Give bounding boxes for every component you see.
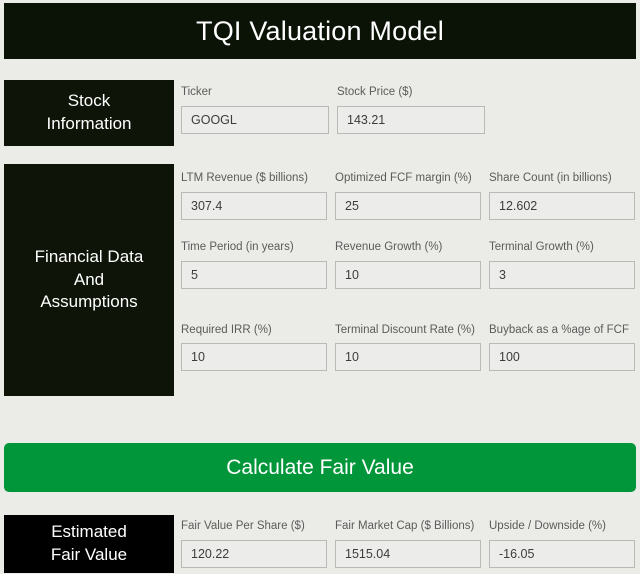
input-ltm-revenue[interactable]: 307.4: [181, 192, 327, 220]
input-time-period[interactable]: 5: [181, 261, 327, 289]
stock-information-fields: Ticker GOOGL Stock Price ($) 143.21: [181, 86, 485, 134]
field-label-share-count: Share Count (in billions): [489, 172, 635, 186]
field-optimized-fcf-margin: Optimized FCF margin (%) 25: [335, 172, 481, 220]
financial-data-fields: LTM Revenue ($ billions) 307.4 Optimized…: [181, 172, 635, 371]
field-share-count: Share Count (in billions) 12.602: [489, 172, 635, 220]
input-share-count[interactable]: 12.602: [489, 192, 635, 220]
financial-label-line-3: Assumptions: [35, 291, 144, 314]
section-label-stock-information-text: Stock Information: [46, 90, 131, 136]
input-buyback-percentage[interactable]: 100: [489, 343, 635, 371]
field-stock-price: Stock Price ($) 143.21: [337, 86, 485, 134]
field-fair-value-per-share: Fair Value Per Share ($) 120.22: [181, 520, 327, 568]
valuation-model-app: TQI Valuation Model Stock Information Ti…: [0, 0, 640, 574]
input-revenue-growth[interactable]: 10: [335, 261, 481, 289]
output-fair-market-cap: 1515.04: [335, 540, 481, 568]
field-ticker: Ticker GOOGL: [181, 86, 329, 134]
field-required-irr: Required IRR (%) 10: [181, 324, 327, 372]
field-label-ticker: Ticker: [181, 86, 329, 100]
app-header: TQI Valuation Model: [4, 3, 636, 59]
field-label-fair-market-cap: Fair Market Cap ($ Billions): [335, 520, 481, 534]
input-required-irr[interactable]: 10: [181, 343, 327, 371]
calculate-fair-value-button[interactable]: Calculate Fair Value: [4, 443, 636, 492]
field-label-buyback-percentage: Buyback as a %age of FCF: [489, 324, 635, 338]
stock-label-line-2: Information: [46, 113, 131, 136]
input-stock-price[interactable]: 143.21: [337, 106, 485, 134]
stock-field-row: Ticker GOOGL Stock Price ($) 143.21: [181, 86, 485, 134]
field-label-terminal-discount-rate: Terminal Discount Rate (%): [335, 324, 481, 338]
field-label-fair-value-per-share: Fair Value Per Share ($): [181, 520, 327, 534]
field-terminal-growth: Terminal Growth (%) 3: [489, 241, 635, 289]
input-terminal-growth[interactable]: 3: [489, 261, 635, 289]
field-label-ltm-revenue: LTM Revenue ($ billions): [181, 172, 327, 186]
estimated-fair-value-fields: Fair Value Per Share ($) 120.22 Fair Mar…: [181, 520, 635, 568]
input-terminal-discount-rate[interactable]: 10: [335, 343, 481, 371]
output-fair-value-per-share: 120.22: [181, 540, 327, 568]
field-revenue-growth: Revenue Growth (%) 10: [335, 241, 481, 289]
field-label-required-irr: Required IRR (%): [181, 324, 327, 338]
result-label-line-2: Fair Value: [51, 544, 127, 567]
input-optimized-fcf-margin[interactable]: 25: [335, 192, 481, 220]
result-label-line-1: Estimated: [51, 521, 127, 544]
field-buyback-percentage: Buyback as a %age of FCF 100: [489, 324, 635, 372]
section-label-stock-information: Stock Information: [4, 80, 174, 146]
field-label-revenue-growth: Revenue Growth (%): [335, 241, 481, 255]
section-label-financial-data-text: Financial Data And Assumptions: [35, 246, 144, 315]
field-terminal-discount-rate: Terminal Discount Rate (%) 10: [335, 324, 481, 372]
field-label-terminal-growth: Terminal Growth (%): [489, 241, 635, 255]
financial-field-row: Time Period (in years) 5 Revenue Growth …: [181, 241, 635, 289]
field-label-optimized-fcf-margin: Optimized FCF margin (%): [335, 172, 481, 186]
result-field-row: Fair Value Per Share ($) 120.22 Fair Mar…: [181, 520, 635, 568]
field-ltm-revenue: LTM Revenue ($ billions) 307.4: [181, 172, 327, 220]
row-spacer: [181, 289, 635, 324]
financial-field-row: Required IRR (%) 10 Terminal Discount Ra…: [181, 324, 635, 372]
field-upside-downside: Upside / Downside (%) -16.05: [489, 520, 635, 568]
page-title: TQI Valuation Model: [196, 18, 444, 45]
financial-label-line-1: Financial Data: [35, 246, 144, 269]
field-label-time-period: Time Period (in years): [181, 241, 327, 255]
financial-field-row: LTM Revenue ($ billions) 307.4 Optimized…: [181, 172, 635, 220]
section-label-financial-data: Financial Data And Assumptions: [4, 164, 174, 396]
row-spacer: [181, 220, 635, 241]
field-fair-market-cap: Fair Market Cap ($ Billions) 1515.04: [335, 520, 481, 568]
field-label-stock-price: Stock Price ($): [337, 86, 485, 100]
field-label-upside-downside: Upside / Downside (%): [489, 520, 635, 534]
section-label-estimated-fair-value-text: Estimated Fair Value: [51, 521, 127, 567]
field-time-period: Time Period (in years) 5: [181, 241, 327, 289]
stock-label-line-1: Stock: [46, 90, 131, 113]
input-ticker[interactable]: GOOGL: [181, 106, 329, 134]
output-upside-downside: -16.05: [489, 540, 635, 568]
financial-label-line-2: And: [35, 269, 144, 292]
section-label-estimated-fair-value: Estimated Fair Value: [4, 515, 174, 573]
